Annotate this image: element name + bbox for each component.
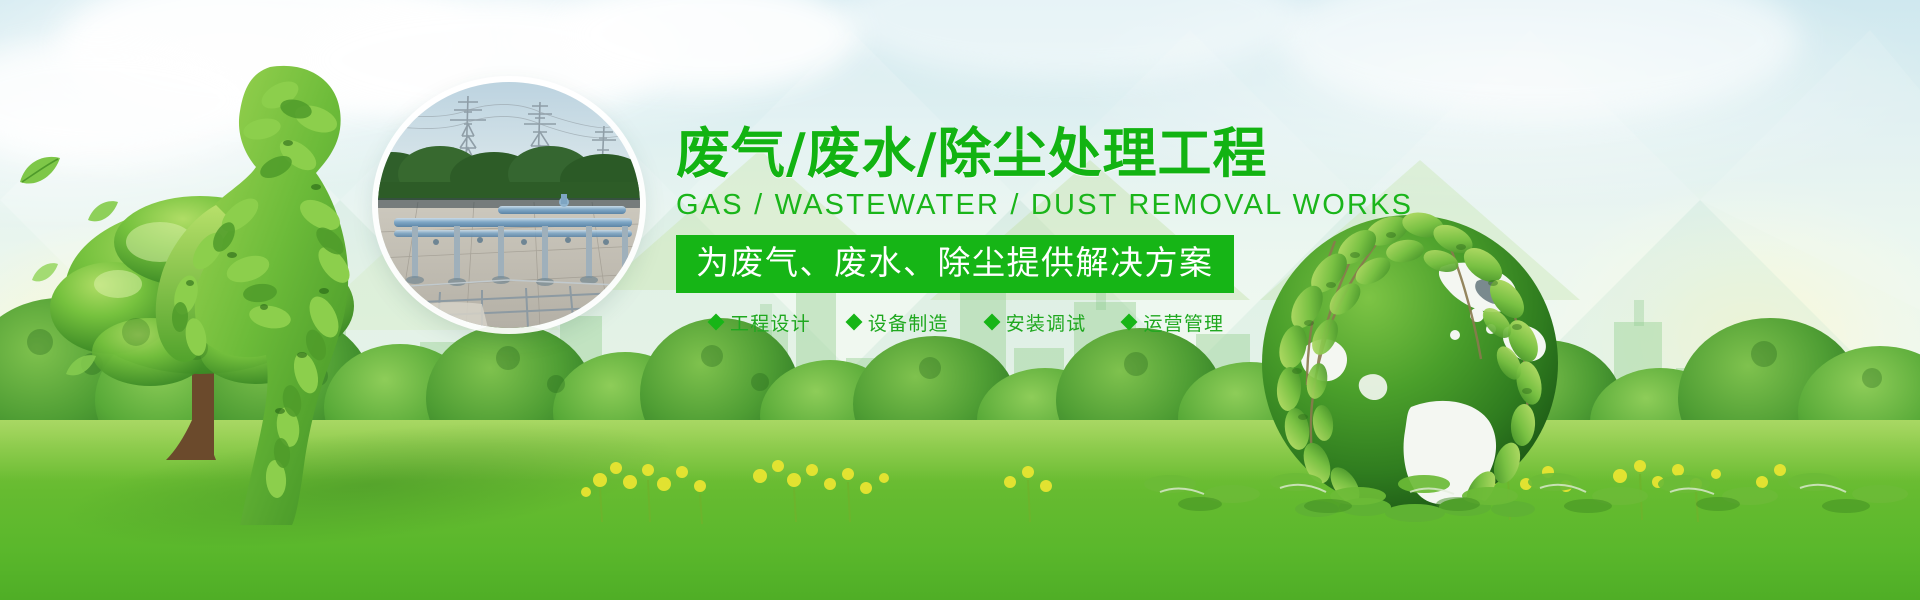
diamond-bullet-icon bbox=[1121, 314, 1138, 331]
feature-item[interactable]: 运营管理 bbox=[1123, 309, 1224, 336]
leaf-litter-ground bbox=[1140, 448, 1920, 528]
page-title: 废气/废水/除尘处理工程 bbox=[676, 126, 1516, 182]
feature-label: 工程设计 bbox=[730, 309, 811, 336]
floating-leaf-icon bbox=[64, 352, 98, 380]
eco-engineering-banner: 废气/废水/除尘处理工程 GAS / WASTEWATER / DUST REM… bbox=[0, 0, 1920, 600]
tagline-bar: 为废气、废水、除尘提供解决方案 bbox=[676, 235, 1234, 293]
feature-item[interactable]: 工程设计 bbox=[710, 309, 811, 336]
feature-label: 运营管理 bbox=[1143, 309, 1224, 336]
feature-item[interactable]: 设备制造 bbox=[848, 309, 949, 336]
feature-item[interactable]: 安装调试 bbox=[986, 309, 1087, 336]
diamond-bullet-icon bbox=[845, 314, 862, 331]
floating-leaf-icon bbox=[86, 198, 120, 226]
diamond-bullet-icon bbox=[983, 314, 1000, 331]
banner-text-block: 废气/废水/除尘处理工程 GAS / WASTEWATER / DUST REM… bbox=[676, 126, 1516, 336]
page-subtitle: GAS / WASTEWATER / DUST REMOVAL WORKS bbox=[676, 189, 1516, 222]
leaf-man-figure bbox=[120, 55, 380, 525]
tagline-text: 为废气、废水、除尘提供解决方案 bbox=[696, 243, 1214, 282]
feature-list: 工程设计 设备制造 安装调试 运营管理 bbox=[710, 309, 1516, 336]
floating-leaf-icon bbox=[16, 152, 62, 192]
feature-label: 安装调试 bbox=[1006, 309, 1087, 336]
floating-leaf-icon bbox=[30, 260, 60, 286]
diamond-bullet-icon bbox=[708, 314, 725, 331]
feature-label: 设备制造 bbox=[868, 309, 949, 336]
wastewater-plant-photo bbox=[378, 82, 640, 328]
